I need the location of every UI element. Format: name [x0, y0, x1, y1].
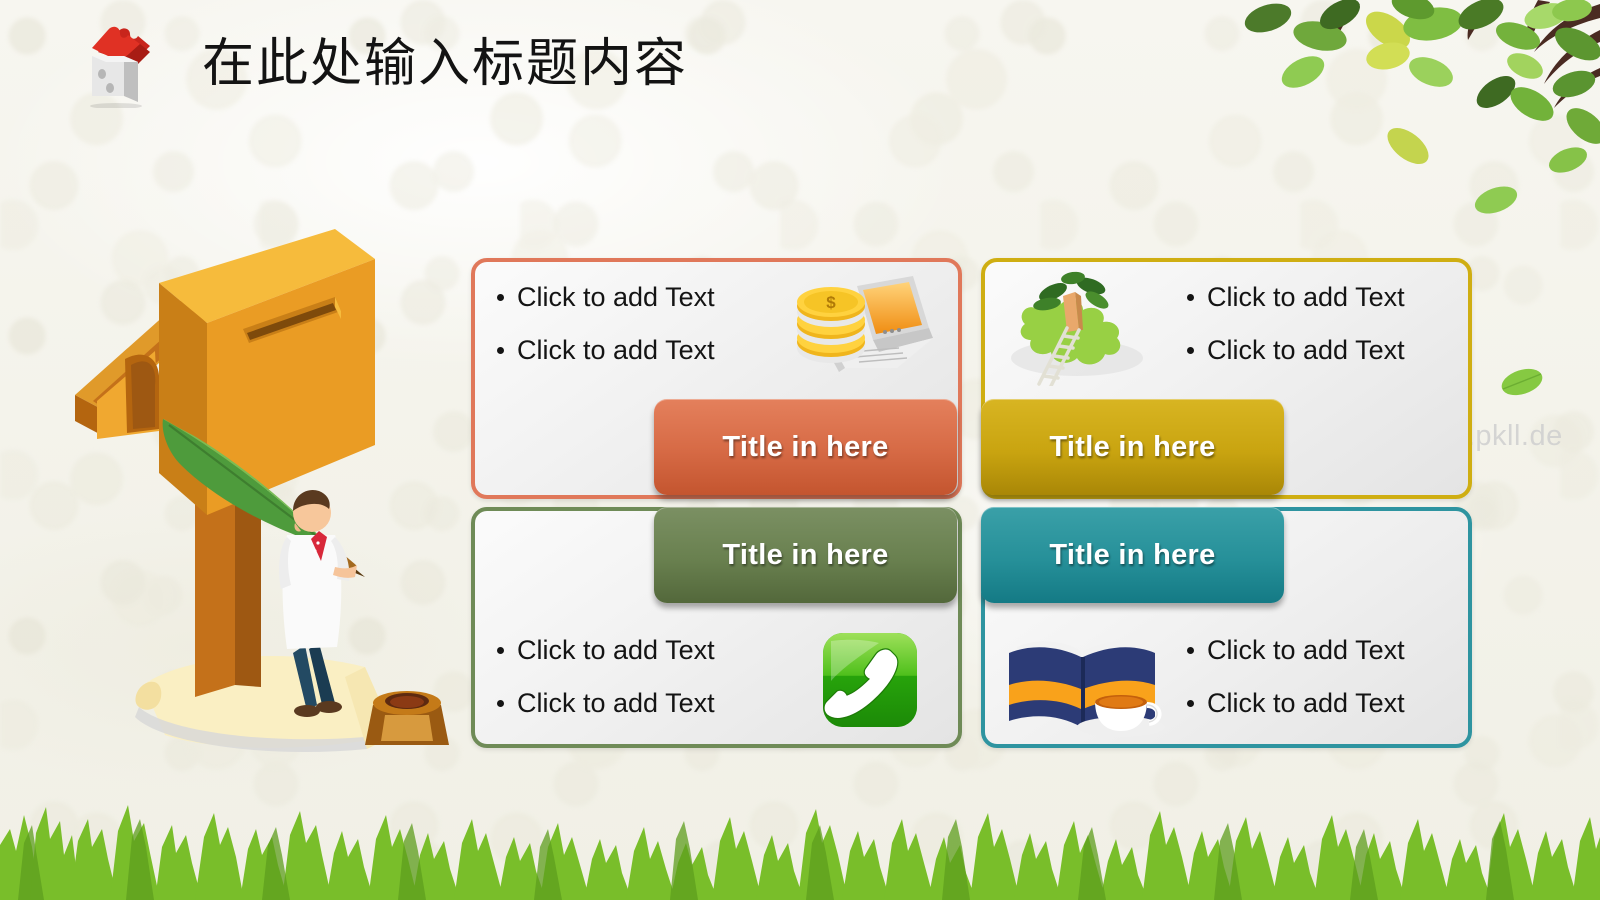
panel-2-title-button[interactable]: Title in here: [981, 399, 1284, 495]
bullet-dot-icon: [1187, 647, 1194, 654]
bullet-text: Click to add Text: [517, 337, 715, 364]
panel-1-bullets: Click to add Text Click to add Text: [497, 284, 715, 364]
panel-4-bullets: Click to add Text Click to add Text: [1187, 637, 1405, 717]
panel-4-title-text: Title in here: [1049, 539, 1215, 572]
book-and-coffee-icon: [999, 623, 1169, 739]
panel-4-title-button[interactable]: Title in here: [981, 507, 1284, 603]
coins-and-laptop-icon: $: [779, 272, 934, 382]
list-item: Click to add Text: [497, 690, 715, 717]
bullet-dot-icon: [497, 647, 504, 654]
leaf-icon: [1499, 362, 1545, 402]
panel-1-title-text: Title in here: [722, 431, 888, 464]
bullet-text: Click to add Text: [1207, 337, 1405, 364]
bullet-dot-icon: [497, 700, 504, 707]
panel-1-title-button[interactable]: Title in here: [654, 399, 957, 495]
bullet-text: Click to add Text: [1207, 284, 1405, 311]
panel-card-1[interactable]: Click to add Text Click to add Text: [471, 258, 962, 499]
mailbox-house-with-writer-illustration: [35, 215, 475, 775]
panel-3-title-button[interactable]: Title in here: [654, 507, 957, 603]
leafy-branch-icon: [1228, 0, 1600, 215]
panel-card-2[interactable]: Click to add Text Click to add Text Titl…: [981, 258, 1472, 499]
list-item: Click to add Text: [1187, 284, 1405, 311]
puzzle-tree-ladder-icon: [991, 266, 1156, 386]
bullet-dot-icon: [497, 347, 504, 354]
puzzle-piece-icon: [80, 22, 158, 108]
panel-card-4[interactable]: Title in here Click to add Text Cl: [981, 507, 1472, 748]
green-phone-icon: [817, 629, 923, 735]
bullet-text: Click to add Text: [517, 284, 715, 311]
title-row: 在此处输入标题内容: [80, 22, 688, 108]
bullet-text: Click to add Text: [517, 637, 715, 664]
panel-3-bullets: Click to add Text Click to add Text: [497, 637, 715, 717]
grass-icon: [0, 785, 1600, 900]
panel-card-3[interactable]: Title in here Click to add Text Click to…: [471, 507, 962, 748]
panel-3-title-text: Title in here: [722, 539, 888, 572]
svg-text:$: $: [826, 293, 836, 312]
bullet-dot-icon: [1187, 700, 1194, 707]
bullet-text: Click to add Text: [1207, 637, 1405, 664]
bullet-text: Click to add Text: [1207, 690, 1405, 717]
list-item: Click to add Text: [1187, 337, 1405, 364]
list-item: Click to add Text: [497, 284, 715, 311]
slide-canvas: 在此处输入标题内容 https://ppt.pkll.de Click to a…: [0, 0, 1600, 900]
list-item: Click to add Text: [497, 337, 715, 364]
list-item: Click to add Text: [1187, 637, 1405, 664]
bullet-dot-icon: [497, 294, 504, 301]
page-title: 在此处输入标题内容: [202, 39, 688, 91]
bullet-dot-icon: [1187, 294, 1194, 301]
panel-2-title-text: Title in here: [1049, 431, 1215, 464]
bullet-dot-icon: [1187, 347, 1194, 354]
list-item: Click to add Text: [497, 637, 715, 664]
bullet-text: Click to add Text: [517, 690, 715, 717]
panel-2-bullets: Click to add Text Click to add Text: [1187, 284, 1405, 364]
list-item: Click to add Text: [1187, 690, 1405, 717]
